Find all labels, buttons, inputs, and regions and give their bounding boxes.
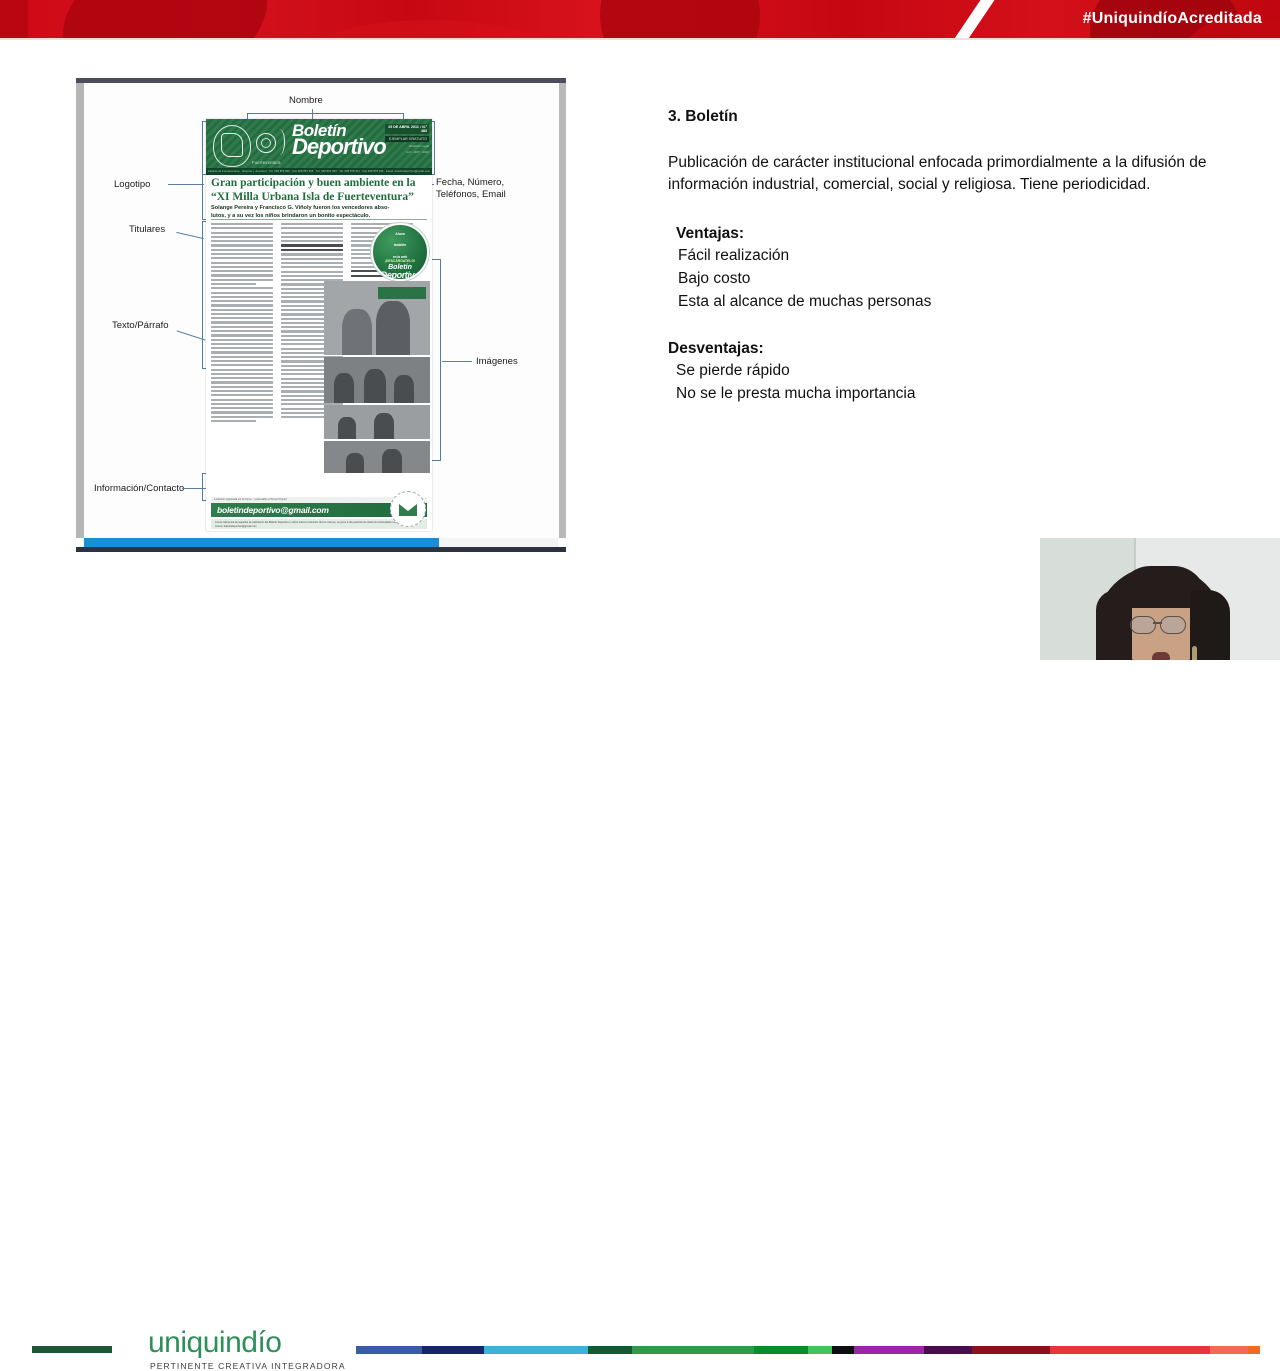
slide-footer: uniquindío PERTINENTE CREATIVA INTEGRADO… [0, 660, 1280, 720]
newspaper-photo-1 [324, 281, 430, 355]
leader-imagenes [442, 361, 472, 362]
footer-bar-segment-7 [808, 1346, 832, 1354]
masthead-contact-strip: Cabildo de Fuerteventura · Deporte y Juv… [206, 168, 432, 175]
masthead-legal-line1: Depósito Legal [385, 144, 429, 149]
subhead-line1: Solange Pereira y Francisco G. Viñoly fu… [211, 205, 389, 211]
annotation-nombre: Nombre [289, 95, 323, 107]
newspaper-masthead: Fuerteventura Boletín Deportivo 29 DE AB… [206, 119, 432, 175]
masthead-date: 29 DE ABRIL 2011 • N.º 483 [385, 124, 429, 134]
footer-bar-segment-13 [1210, 1346, 1248, 1354]
footer-color-bar [356, 1346, 1260, 1354]
masthead-legal-line2: G.C. 1167 - 2010 [385, 150, 429, 155]
intro-paragraph: Publicación de carácter institucional en… [668, 152, 1264, 197]
footer-bar-segment-12 [1050, 1346, 1210, 1354]
figure-left-border [76, 83, 84, 538]
badge-line2: también [373, 243, 427, 247]
masthead-meta: 29 DE ABRIL 2011 • N.º 483 EJEMPLAR GRAT… [385, 124, 429, 155]
newspaper-photos [324, 281, 430, 473]
masthead-title-line2: Deportivo [292, 137, 396, 157]
newspaper-headline: Gran participación y buen ambiente en la… [211, 177, 427, 204]
footer-bar-segment-4 [588, 1346, 632, 1354]
masthead-free-label: EJEMPLAR GRATUITO [385, 136, 429, 142]
footer-bar-segment-3 [484, 1346, 588, 1354]
glasses-right-lens-icon [1160, 616, 1186, 634]
annotation-fecha-line1: Fecha, Número, [436, 177, 504, 188]
headline-line2: “XI Milla Urbana Isla de Fuerteventura” [211, 191, 414, 203]
advantages-heading: Ventajas: [668, 225, 1264, 243]
top-banner: #UniquindíoAcreditada [0, 0, 1280, 38]
masthead-title: Boletín Deportivo [292, 123, 396, 167]
annotation-titulares: Titulares [129, 224, 165, 236]
newspaper-web-badge: Ahora también en la web ¡DESCÁRGATELO! B… [371, 223, 429, 281]
headline-line1: Gran participación y buen ambiente en la [211, 177, 415, 189]
newspaper-rule [211, 219, 427, 220]
footer-bar-segment-14 [1248, 1346, 1260, 1354]
footer-bar-segment-1 [356, 1346, 422, 1354]
newspaper-subheadline: Solange Pereira y Francisco G. Viñoly fu… [211, 205, 427, 220]
disadvantage-item-1: Se pierde rápido [668, 360, 1264, 383]
banner-shape-5 [300, 20, 560, 38]
newspaper-photo-3 [324, 405, 430, 439]
leader-titulares [176, 232, 204, 240]
footer-bar-segment-8 [832, 1346, 854, 1354]
annotation-informacion-contacto: Información/Contacto [94, 483, 184, 495]
advantage-item-2: Bajo costo [668, 268, 1264, 291]
page-title: 3. Boletín [668, 108, 1264, 126]
banner-shape-2 [600, 0, 760, 38]
disadvantage-item-2: No se le presta mucha importancia [668, 383, 1264, 406]
footer-bar-segment-6 [754, 1346, 808, 1354]
uniquindio-tagline: PERTINENTE CREATIVA INTEGRADORA [150, 1361, 346, 1371]
badge-cta: ¡DESCÁRGATELO! [373, 259, 427, 263]
figure-canvas: Nombre Logotipo Fecha, Número, Teléfonos… [84, 83, 559, 538]
annotation-logotipo: Logotipo [114, 179, 150, 191]
slide-text-content: 3. Boletín Publicación de carácter insti… [668, 108, 1264, 406]
annotation-texto-parrafo: Texto/Párrafo [112, 320, 169, 332]
figure-right-border [559, 83, 566, 538]
badge-line1: Ahora [373, 232, 427, 236]
advantage-item-3: Esta al alcance de muchas personas [668, 291, 1264, 314]
annotation-fecha-line2: Teléfonos, Email [436, 189, 506, 200]
footer-bar-segment-11 [972, 1346, 1050, 1354]
subhead-line2: lutos, y a su vez los niños brindaron un… [211, 213, 370, 219]
footer-bar-segment-5 [632, 1346, 754, 1354]
cabildo-logo-icon [213, 125, 251, 167]
disadvantages-heading: Desventajas: [668, 340, 1264, 358]
footer-dash-accent [32, 1346, 112, 1353]
footer-bar-segment-9 [854, 1346, 924, 1354]
newspaper-photo-4 [324, 441, 430, 473]
newspaper-column-1 [211, 223, 273, 473]
banner-shape-1 [44, 0, 287, 38]
masthead-sublabel: Fuerteventura [252, 160, 281, 165]
footer-bar-segment-10 [924, 1346, 972, 1354]
annotation-imagenes: Imágenes [476, 356, 518, 368]
fuerteventura-logo-icon [254, 129, 288, 161]
leader-logotipo [168, 184, 204, 185]
banner-diagonal-slash [941, 0, 1002, 38]
newspaper-photo-2 [324, 357, 430, 403]
figure-bottom-border [76, 547, 566, 552]
advantage-item-1: Fácil realización [668, 245, 1264, 268]
photo-banner-overlay [378, 287, 426, 299]
banner-hashtag: #UniquindíoAcreditada [1083, 0, 1262, 38]
boletin-diagram-figure: Nombre Logotipo Fecha, Número, Teléfonos… [76, 78, 566, 555]
glasses-bridge-icon [1153, 622, 1162, 624]
footer-bar-segment-2 [422, 1346, 484, 1354]
envelope-icon [390, 491, 426, 527]
section-gap [668, 314, 1264, 340]
uniquindio-logo: uniquindío [148, 1328, 281, 1358]
banner-left-accent [0, 0, 28, 38]
figure-progress-track [439, 538, 558, 547]
glasses-left-lens-icon [1130, 616, 1156, 634]
newspaper-page: Fuerteventura Boletín Deportivo 29 DE AB… [206, 119, 432, 531]
figure-progress-bar [84, 538, 439, 547]
annotation-fecha: Fecha, Número, Teléfonos, Email [436, 177, 506, 201]
